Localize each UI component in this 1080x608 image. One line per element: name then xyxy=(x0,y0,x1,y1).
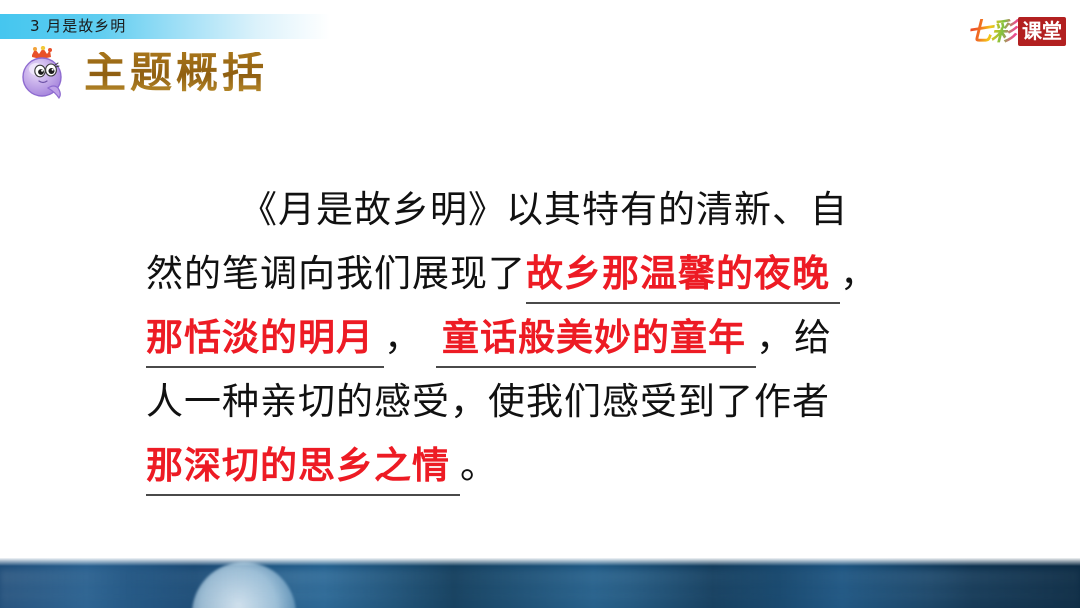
purple-q-mascot-icon xyxy=(18,46,70,100)
text-segment: ，给 xyxy=(756,316,832,359)
blank-answer-segment: 童话般美妙的童年 xyxy=(436,314,756,368)
text-segment: ， xyxy=(840,252,878,295)
section-title-label: 主题概括 xyxy=(84,52,268,94)
footer-decoration-band xyxy=(0,558,1080,608)
brand-box-text: 课堂 xyxy=(1018,17,1066,46)
summary-paragraph: 《月是故乡明》以其特有的清新、自 然的笔调向我们展现了故乡那温馨的夜晚， 那恬淡… xyxy=(146,178,966,498)
wave-layer xyxy=(0,596,1080,608)
text-line: 那深切的思乡之情。 xyxy=(146,434,966,498)
text-line: 那恬淡的明月，童话般美妙的童年，给 xyxy=(146,306,966,370)
text-segment: 然的笔调向我们展现了 xyxy=(146,252,526,295)
text-segment: 《月是故乡明》以其特有的清新、自 xyxy=(240,188,848,231)
text-line: 然的笔调向我们展现了故乡那温馨的夜晚， xyxy=(146,242,966,306)
wave-layer xyxy=(0,570,1080,584)
text-line: 《月是故乡明》以其特有的清新、自 xyxy=(146,178,966,242)
brand-logo: 七彩 课堂 xyxy=(967,16,1066,46)
blank-answer-segment: 那恬淡的明月 xyxy=(146,314,384,368)
blank-answer-segment: 那深切的思乡之情 xyxy=(146,442,460,496)
brand-colorful-text: 七彩 xyxy=(967,19,1018,44)
lesson-title-label: 3 月是故乡明 xyxy=(30,14,126,39)
blank-answer-segment: 故乡那温馨的夜晚 xyxy=(526,250,840,304)
text-segment: 人一种亲切的感受，使我们感受到了作者 xyxy=(146,380,830,423)
text-segment: 。 xyxy=(460,444,498,487)
text-segment: ， xyxy=(384,316,422,359)
section-title: 主题概括 xyxy=(18,44,268,102)
text-line: 人一种亲切的感受，使我们感受到了作者 xyxy=(146,370,966,434)
